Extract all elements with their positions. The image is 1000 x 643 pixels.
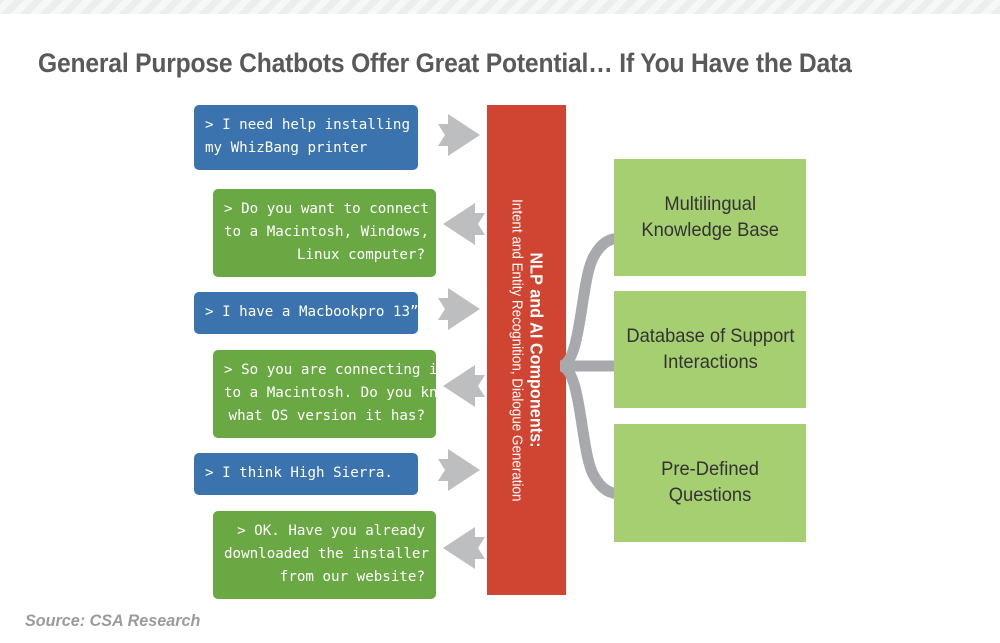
chat-bubble-user-3: > I think High Sierra. xyxy=(194,453,418,495)
chat-bubble-bot-3: > OK. Have you already downloaded the in… xyxy=(213,511,436,599)
nlp-engine-subtitle: Intent and Entity Recognition, Dialogue … xyxy=(508,199,524,501)
nlp-engine-bar: NLP and AI Components: Intent and Entity… xyxy=(487,105,566,595)
connector-to-multilingual-knowledge-base xyxy=(560,238,622,366)
arrow-right-icon xyxy=(436,446,482,494)
resource-label: MultilingualKnowledge Base xyxy=(641,192,779,243)
connector-to-pre-defined-questions xyxy=(560,366,622,494)
arrow-right-icon xyxy=(436,111,482,159)
chat-bubble-user-1: > I need help installing my WhizBang pri… xyxy=(194,105,418,170)
nlp-engine-label-group: NLP and AI Components: Intent and Entity… xyxy=(507,105,546,595)
resource-box-pre-defined-questions: Pre-DefinedQuestions xyxy=(614,424,806,542)
source-note: Source: CSA Research xyxy=(25,611,200,631)
chat-bubble-bot-1: > Do you want to connect it to a Macinto… xyxy=(213,189,436,277)
arrow-left-icon xyxy=(441,200,487,248)
arrow-left-icon xyxy=(441,524,487,572)
resource-box-multilingual-knowledge-base: MultilingualKnowledge Base xyxy=(614,159,806,276)
resource-label: Database of SupportInteractions xyxy=(626,324,794,375)
resource-box-database-of-support-interactions: Database of SupportInteractions xyxy=(614,291,806,408)
resource-label: Pre-DefinedQuestions xyxy=(661,457,759,508)
arrow-left-icon xyxy=(441,362,487,410)
page-title: General Purpose Chatbots Offer Great Pot… xyxy=(38,48,912,79)
arrow-right-icon xyxy=(436,285,482,333)
chat-bubble-user-2: > I have a Macbookpro 13” xyxy=(194,292,418,334)
chat-bubble-bot-2: > So you are connecting it to a Macintos… xyxy=(213,350,436,438)
nlp-engine-title: NLP and AI Components: xyxy=(525,252,546,447)
top-stripe-band xyxy=(0,0,1000,14)
